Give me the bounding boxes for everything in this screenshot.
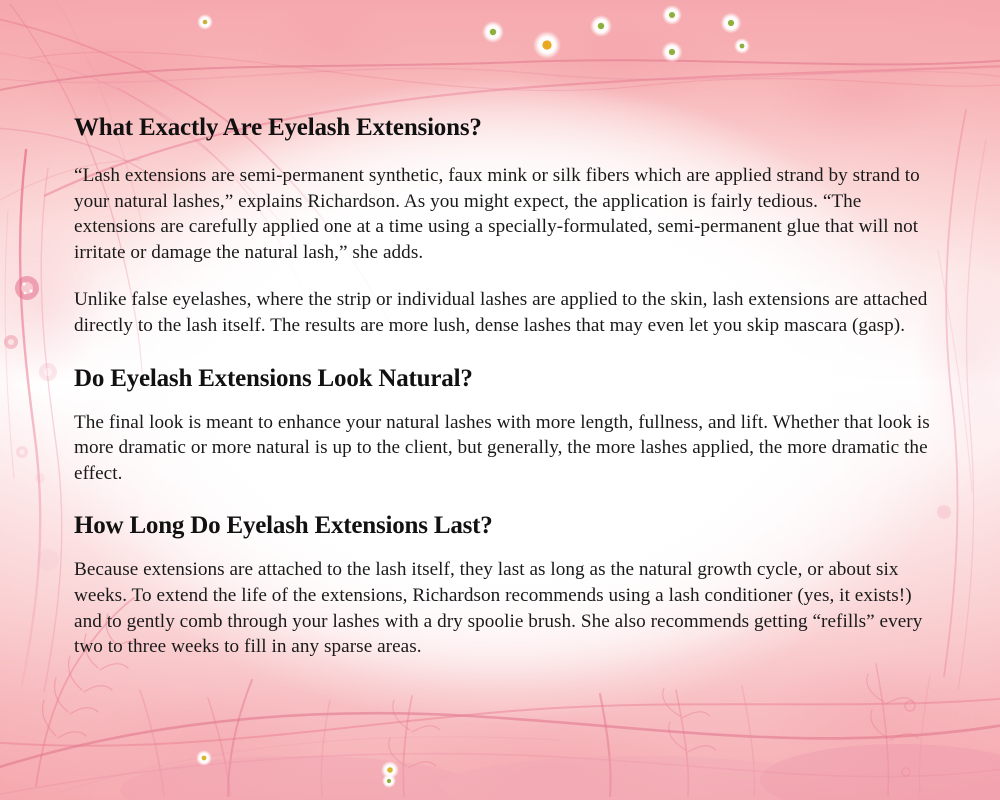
daisy-icon — [590, 15, 612, 37]
daisy-icon — [734, 38, 750, 54]
left-vine-blossoms — [4, 276, 59, 571]
section-heading-1: What Exactly Are Eyelash Extensions? — [74, 112, 940, 143]
section-2-paragraph-1: The final look is meant to enhance your … — [74, 410, 940, 487]
section-1-paragraph-2: Unlike false eyelashes, where the strip … — [74, 287, 940, 338]
section-heading-2: Do Eyelash Extensions Look Natural? — [74, 363, 940, 394]
daisy-icon — [382, 774, 396, 788]
article-page: What Exactly Are Eyelash Extensions? “La… — [0, 0, 1000, 800]
section-3-paragraph-1: Because extensions are attached to the l… — [74, 557, 940, 659]
daisy-icon — [381, 761, 399, 779]
daisy-icon — [196, 750, 212, 766]
section-1-paragraph-1: “Lash extensions are semi-permanent synt… — [74, 163, 940, 265]
daisy-icon — [662, 42, 683, 63]
bottom-stems — [140, 664, 930, 796]
daisy-icon — [197, 14, 213, 30]
right-border-curves — [937, 110, 986, 690]
top-curve-lines — [0, 52, 1000, 92]
bottom-foliage-wash — [120, 744, 1000, 800]
daisy-icon — [533, 31, 561, 59]
daisy-icon — [721, 13, 742, 34]
daisy-icon — [482, 21, 504, 43]
section-heading-3: How Long Do Eyelash Extensions Last? — [74, 510, 940, 541]
bottom-ribbon-curves — [0, 698, 1000, 796]
daisy-icon — [662, 5, 682, 25]
article-content: What Exactly Are Eyelash Extensions? “La… — [74, 112, 940, 660]
